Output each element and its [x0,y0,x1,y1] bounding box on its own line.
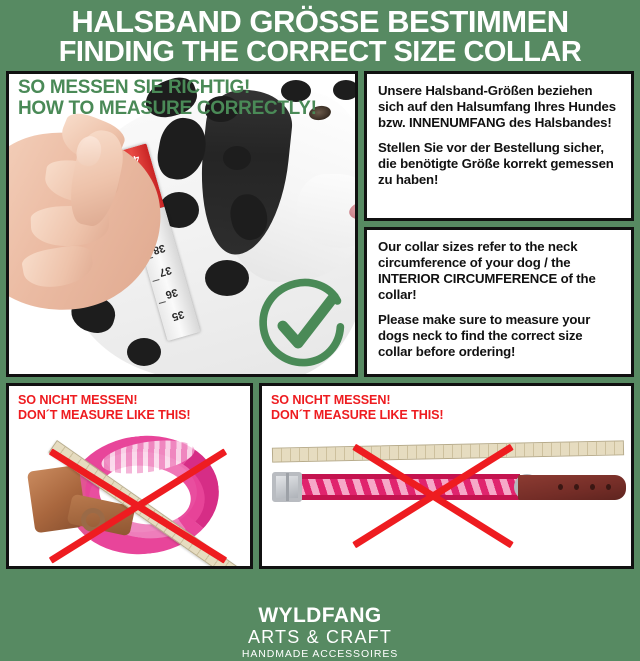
check-circle-icon [253,276,349,372]
info-en-paragraph-1: Our collar sizes refer to the neck circu… [378,239,620,303]
panel-heading-group: SO MESSEN SIE RICHTIG! HOW TO MEASURE CO… [18,78,317,119]
flat-collar-photo [262,430,631,566]
warning-de-right: SO NICHT MESSEN! [271,393,631,408]
how-to-measure-panel: SO MESSEN SIE RICHTIG! HOW TO MEASURE CO… [6,71,358,377]
brand-tagline: HANDMADE ACCESSOIRES [0,649,640,660]
dog-spot [205,260,249,296]
bad-examples-row: SO NICHT MESSEN! DON´T MEASURE LIKE THIS… [0,377,640,569]
main-content: SO MESSEN SIE RICHTIG! HOW TO MEASURE CO… [0,71,640,377]
warning-en-right: DON´T MEASURE LIKE THIS! [271,408,631,423]
info-de-paragraph-2: Stellen Sie vor der Bestellung sicher, d… [378,140,620,188]
red-x-icon [340,436,526,556]
warning-en-left: DON´T MEASURE LIKE THIS! [18,408,250,423]
brand-name: WYLDFANG [0,605,640,626]
header-title-de: HALSBAND GRÖSSE BESTIMMEN [10,6,630,38]
left-column: SO MESSEN SIE RICHTIG! HOW TO MEASURE CO… [6,71,358,377]
info-de-paragraph-1: Unsere Halsband-Größen beziehen sich auf… [378,83,620,131]
panel-heading-de: SO MESSEN SIE RICHTIG! [18,78,317,99]
right-column: Unsere Halsband-Größen beziehen sich auf… [364,71,634,377]
red-x-icon [35,444,241,568]
collar-metal-buckle [272,472,302,502]
bad-example-flat-panel: SO NICHT MESSEN! DON´T MEASURE LIKE THIS… [259,383,634,569]
bad-example-coiled-panel: SO NICHT MESSEN! DON´T MEASURE LIKE THIS… [6,383,253,569]
panel-heading-en: HOW TO MEASURE CORRECTLY! [18,99,317,120]
info-panel-de: Unsere Halsband-Größen beziehen sich auf… [364,71,634,221]
header-title-en: FINDING THE CORRECT SIZE COLLAR [10,38,630,68]
page-header: HALSBAND GRÖSSE BESTIMMEN FINDING THE CO… [0,0,640,71]
dog-spot [333,80,358,100]
brand-footer: WYLDFANG ARTS & CRAFT HANDMADE ACCESSOIR… [0,605,640,660]
info-panel-en: Our collar sizes refer to the neck circu… [364,227,634,377]
warning-group-right: SO NICHT MESSEN! DON´T MEASURE LIKE THIS… [262,386,631,423]
info-en-paragraph-2: Please make sure to measure your dogs ne… [378,312,620,360]
dog-spot [127,338,161,366]
warning-de-left: SO NICHT MESSEN! [18,393,250,408]
coiled-collar-photo [9,430,250,566]
brand-subtitle: ARTS & CRAFT [0,628,640,646]
warning-group-left: SO NICHT MESSEN! DON´T MEASURE LIKE THIS… [9,386,250,423]
